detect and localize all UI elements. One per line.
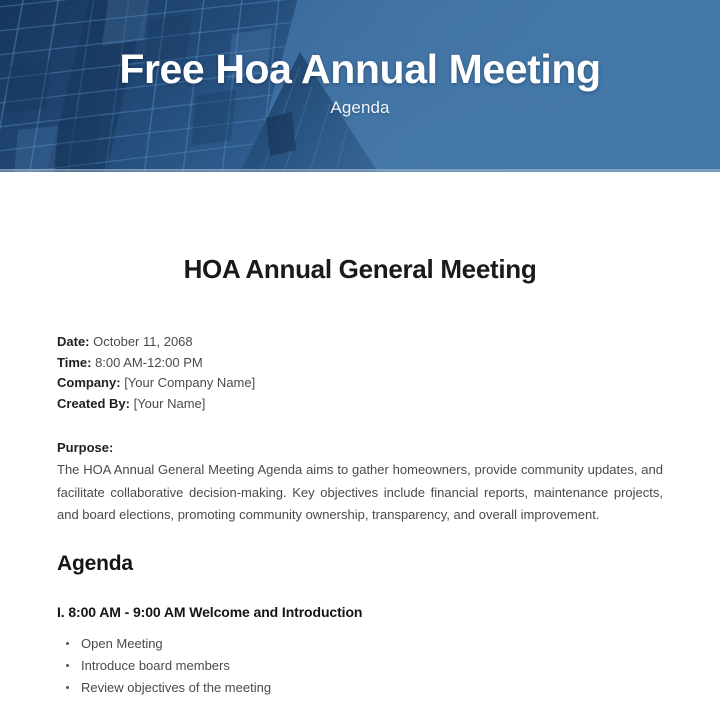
meta-label-company: Company: <box>57 375 121 390</box>
meta-row-created-by: Created By: [Your Name] <box>57 394 663 415</box>
agenda-heading: Agenda <box>57 552 663 576</box>
meta-value-company[interactable]: [Your Company Name] <box>124 375 255 390</box>
page-title: HOA Annual General Meeting <box>57 172 663 285</box>
agenda-item-title: I. 8:00 AM - 9:00 AM Welcome and Introdu… <box>57 604 663 620</box>
list-item: Introduce board members <box>66 655 663 677</box>
banner-bottom-edge <box>0 169 720 172</box>
purpose-section: Purpose: The HOA Annual General Meeting … <box>57 440 663 527</box>
list-item: Review objectives of the meeting <box>66 677 663 699</box>
meta-label-date: Date: <box>57 334 90 349</box>
meta-label-created-by: Created By: <box>57 396 130 411</box>
meta-row-company: Company: [Your Company Name] <box>57 373 663 394</box>
meta-label-time: Time: <box>57 355 91 370</box>
meta-value-time: 8:00 AM-12:00 PM <box>95 355 203 370</box>
meta-value-date: October 11, 2068 <box>93 334 193 349</box>
meta-row-date: Date: October 11, 2068 <box>57 332 663 353</box>
agenda-bullet-list: Open Meeting Introduce board members Rev… <box>57 633 663 699</box>
purpose-label: Purpose: <box>57 440 663 455</box>
list-item: Open Meeting <box>66 633 663 655</box>
banner-subtitle: Agenda <box>330 98 389 118</box>
banner-title: Free Hoa Annual Meeting <box>119 48 600 91</box>
meta-row-time: Time: 8:00 AM-12:00 PM <box>57 353 663 374</box>
meta-value-created-by[interactable]: [Your Name] <box>134 396 206 411</box>
meeting-metadata: Date: October 11, 2068 Time: 8:00 AM-12:… <box>57 332 663 414</box>
document-body: HOA Annual General Meeting Date: October… <box>0 172 720 699</box>
purpose-text: The HOA Annual General Meeting Agenda ai… <box>57 459 663 527</box>
header-banner: Free Hoa Annual Meeting Agenda <box>0 0 720 172</box>
